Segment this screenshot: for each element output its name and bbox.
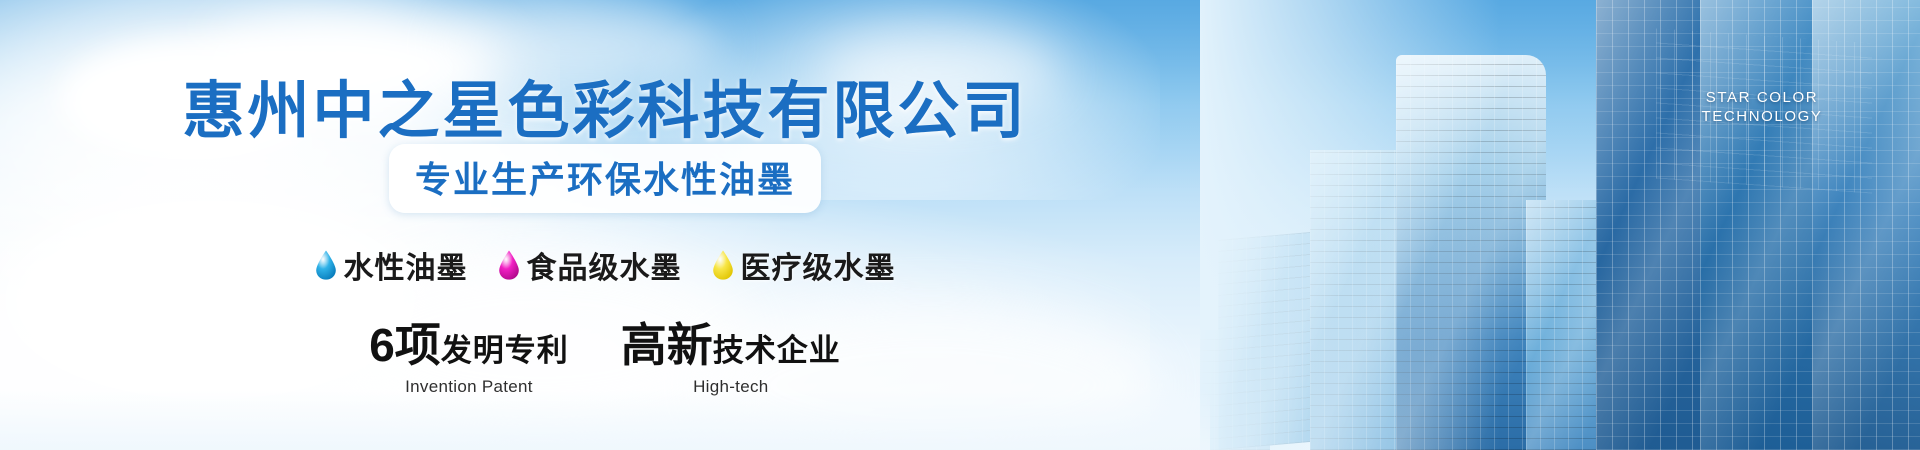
credential-badge-list: 6项发明专利 Invention Patent 高新技术企业 High-tech	[0, 322, 1210, 397]
credential-rest: 技术企业	[713, 333, 841, 368]
company-hero-banner: ★ Star Color STAR COLOR TECHNOLOGY 惠州中之星…	[0, 0, 1920, 450]
credential-english: High-tech	[621, 377, 841, 397]
city-haze-overlay	[1200, 0, 1500, 450]
feature-item: 食品级水墨	[498, 243, 682, 287]
tagline-text: 专业生产环保水性油墨	[415, 151, 795, 203]
water-drop-icon	[498, 250, 520, 280]
feature-item: 医疗级水墨	[712, 243, 896, 287]
brand-english-line-2: TECHNOLOGY	[1662, 107, 1862, 126]
feature-label: 水性油墨	[344, 243, 468, 287]
tagline-pill: 专业生产环保水性油墨	[389, 144, 821, 213]
credential-badge: 高新技术企业 High-tech	[621, 322, 841, 397]
feature-item: 水性油墨	[315, 243, 468, 287]
credential-chinese: 6项发明专利	[369, 322, 569, 368]
water-drop-icon	[315, 250, 337, 280]
credential-english: Invention Patent	[369, 377, 569, 397]
feature-label: 食品级水墨	[527, 243, 682, 287]
water-drop-icon	[712, 250, 734, 280]
company-title: 惠州中之星色彩科技有限公司	[0, 60, 1210, 150]
credential-highlight: 高新	[621, 319, 713, 371]
credential-highlight: 6项	[369, 319, 441, 371]
banner-content: 惠州中之星色彩科技有限公司 专业生产环保水性油墨 水性油墨	[0, 0, 1210, 450]
feature-label: 医疗级水墨	[741, 243, 896, 287]
bottom-fade-overlay	[0, 390, 1210, 450]
product-feature-list: 水性油墨 食品级水墨	[0, 243, 1210, 287]
brand-english-name: STAR COLOR TECHNOLOGY	[1662, 88, 1862, 126]
brand-english-line-1: STAR COLOR	[1662, 88, 1862, 107]
credential-rest: 发明专利	[441, 333, 569, 368]
credential-badge: 6项发明专利 Invention Patent	[369, 322, 569, 397]
credential-chinese: 高新技术企业	[621, 322, 841, 368]
